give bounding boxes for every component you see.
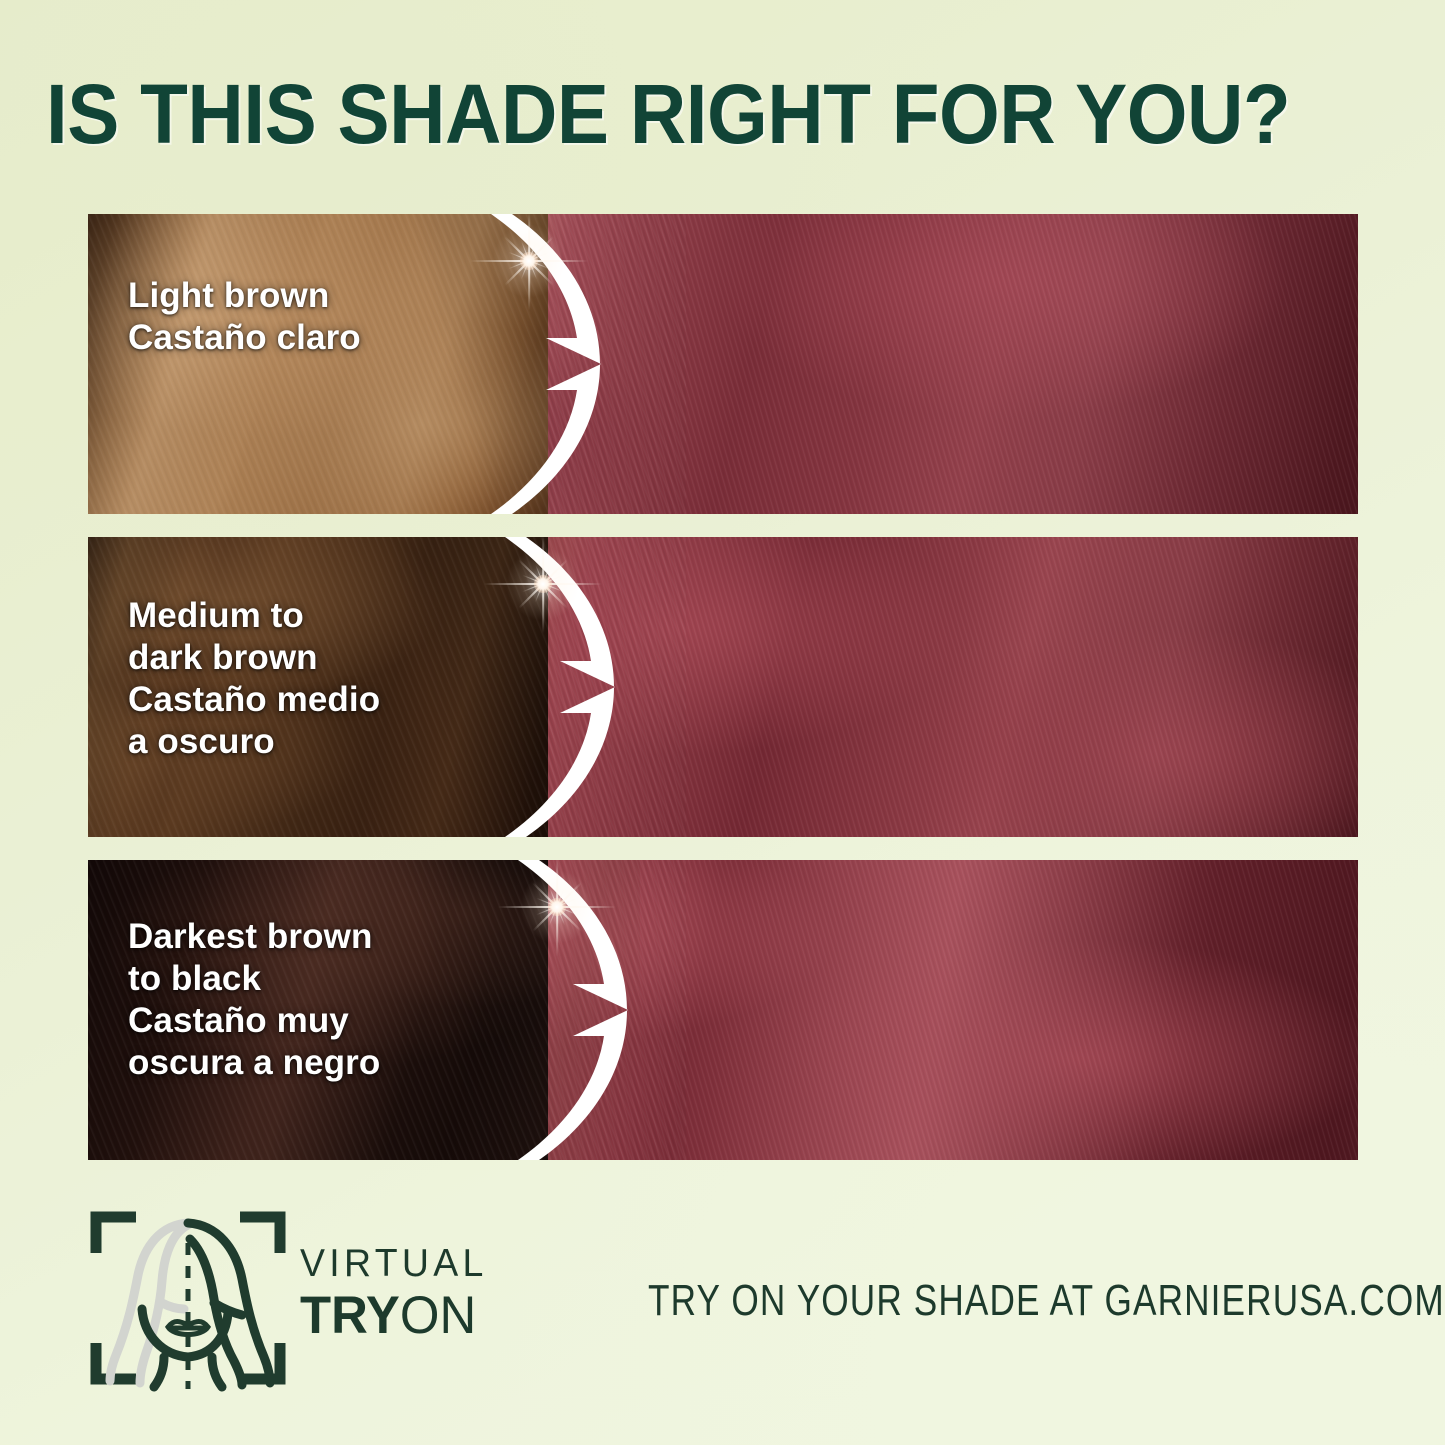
wordmark-try: TRY	[300, 1286, 400, 1345]
shade-label-medium-dark-brown: Medium to dark brown Castaño medio a osc…	[128, 595, 380, 763]
shade-label-darkest-brown-black: Darkest brown to black Castaño muy oscur…	[128, 916, 380, 1084]
footer: VIRTUAL TRYON TRY ON YOUR SHADE AT GARNI…	[88, 1198, 1378, 1398]
page-title: IS THIS SHADE RIGHT FOR YOU?	[46, 72, 1311, 156]
shade-comparison-row-medium-dark-brown: Medium to dark brown Castaño medio a osc…	[88, 537, 1358, 837]
promo-page: IS THIS SHADE RIGHT FOR YOU? Light brown…	[0, 0, 1445, 1445]
virtual-try-on-face-scan-icon	[88, 1203, 288, 1393]
shade-label-light-brown: Light brown Castaño claro	[128, 275, 361, 359]
starting-shade-swatch-light-brown	[88, 214, 548, 514]
face-hair-right	[188, 1223, 270, 1385]
shade-comparison-row-light-brown: Light brown Castaño claro	[88, 214, 1358, 514]
footer-tagline: TRY ON YOUR SHADE AT GARNIERUSA.COM	[648, 1276, 1445, 1326]
wordmark-line-tryon: TRYON	[300, 1287, 502, 1345]
virtual-try-on-wordmark: VIRTUAL TRYON	[300, 1241, 510, 1345]
virtual-try-on-logo[interactable]: VIRTUAL TRYON	[88, 1198, 508, 1398]
wordmark-on: ON	[400, 1286, 476, 1345]
shade-comparison-row-darkest-brown-black: Darkest brown to black Castaño muy oscur…	[88, 860, 1358, 1160]
wordmark-line-virtual: VIRTUAL	[300, 1241, 502, 1287]
